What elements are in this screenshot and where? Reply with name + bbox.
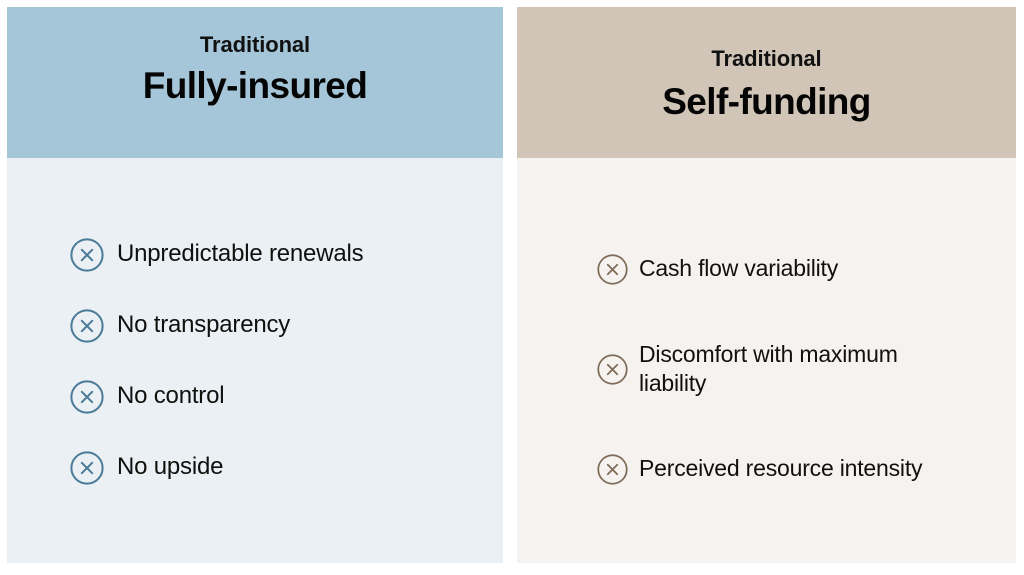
drawback-list-self-funding: Cash flow variability Discomfort with ma… (517, 158, 1016, 519)
circle-x-icon (597, 354, 628, 385)
drawback-list-fully-insured: Unpredictable renewals No transparency N… (7, 158, 503, 503)
panel-eyebrow: Traditional (200, 33, 310, 57)
list-item: Discomfort with maximum liability (597, 319, 1016, 419)
panel-headline: Fully-insured (143, 65, 368, 108)
list-item-label: No upside (117, 452, 223, 482)
panel-header-self-funding: Traditional Self-funding (517, 7, 1016, 158)
circle-x-icon (70, 380, 104, 414)
list-item: No upside (70, 432, 503, 503)
panel-eyebrow: Traditional (711, 47, 821, 71)
list-item-label: Unpredictable renewals (117, 239, 363, 269)
list-item: Unpredictable renewals (70, 219, 503, 290)
circle-x-icon (597, 454, 628, 485)
list-item-label: Perceived resource intensity (639, 454, 922, 483)
panel-headline: Self-funding (662, 81, 871, 124)
circle-x-icon (70, 238, 104, 272)
panel-body-self-funding: Cash flow variability Discomfort with ma… (517, 158, 1016, 563)
panel-fully-insured: Traditional Fully-insured Unpredictable … (7, 7, 503, 563)
list-item: No control (70, 361, 503, 432)
panel-header-fully-insured: Traditional Fully-insured (7, 7, 503, 158)
list-item-label: No control (117, 381, 224, 411)
list-item-label: Cash flow variability (639, 254, 838, 283)
list-item-label: Discomfort with maximum liability (639, 340, 939, 398)
list-item-label: No transparency (117, 310, 290, 340)
list-item: No transparency (70, 290, 503, 361)
list-item: Perceived resource intensity (597, 419, 1016, 519)
list-item: Cash flow variability (597, 219, 1016, 319)
circle-x-icon (70, 309, 104, 343)
circle-x-icon (597, 254, 628, 285)
circle-x-icon (70, 451, 104, 485)
panel-self-funding: Traditional Self-funding Cash flow varia… (517, 7, 1016, 563)
panel-body-fully-insured: Unpredictable renewals No transparency N… (7, 158, 503, 563)
comparison-board: Traditional Fully-insured Unpredictable … (0, 0, 1024, 575)
